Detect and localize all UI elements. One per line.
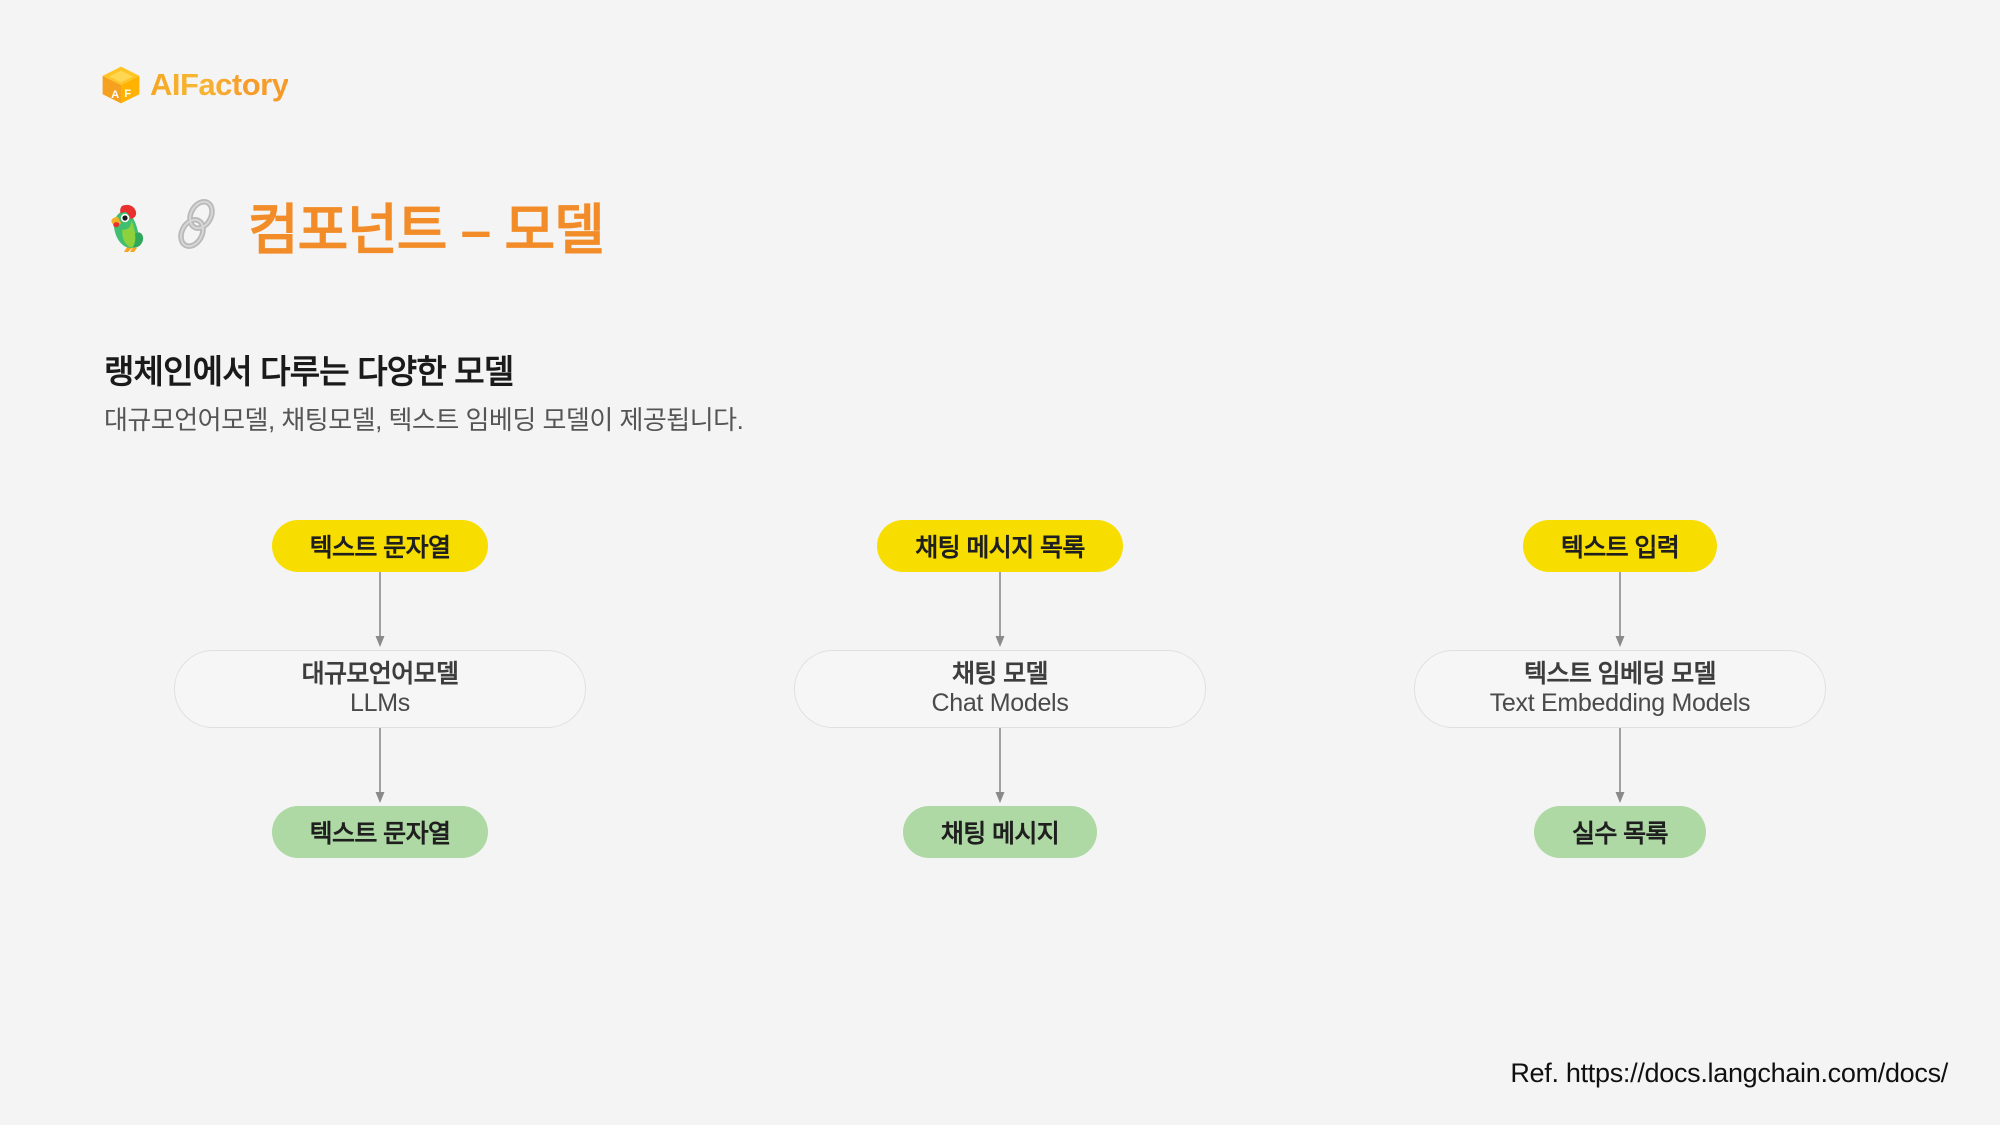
model-name-en: Chat Models — [931, 689, 1068, 719]
arrow-down-icon — [373, 572, 387, 650]
arrow-down-icon — [993, 728, 1007, 806]
slide-title-row: 컴포넌트 – 모델 — [104, 185, 604, 265]
model-flow-diagram: 텍스트 문자열 대규모언어모델 LLMs 텍스트 문자열 채팅 메시지 목록 — [100, 520, 1900, 950]
brand-name: AIFactory — [150, 67, 288, 103]
brand-logo: A F AIFactory — [100, 64, 288, 106]
model-name-ko: 텍스트 임베딩 모델 — [1524, 660, 1716, 690]
output-pill[interactable]: 텍스트 문자열 — [272, 806, 489, 858]
model-name-ko: 대규모언어모델 — [302, 660, 459, 690]
arrow-down-icon — [1613, 728, 1627, 806]
model-box[interactable]: 텍스트 임베딩 모델 Text Embedding Models — [1414, 650, 1826, 728]
model-box[interactable]: 채팅 모델 Chat Models — [794, 650, 1206, 728]
arrow-down-icon — [373, 728, 387, 806]
reference-link[interactable]: Ref. https://docs.langchain.com/docs/ — [1510, 1058, 1948, 1089]
flow-column-chat-models: 채팅 메시지 목록 채팅 모델 Chat Models 채팅 메시지 — [720, 520, 1280, 950]
input-pill[interactable]: 텍스트 입력 — [1523, 520, 1717, 572]
input-pill[interactable]: 채팅 메시지 목록 — [877, 520, 1123, 572]
section-description: 대규모언어모델, 채팅모델, 텍스트 임베딩 모델이 제공됩니다. — [104, 400, 743, 437]
svg-text:A: A — [111, 89, 119, 101]
chain-link-emoji — [172, 197, 224, 253]
model-box[interactable]: 대규모언어모델 LLMs — [174, 650, 586, 728]
model-name-en: Text Embedding Models — [1490, 689, 1751, 719]
arrow-down-icon — [993, 572, 1007, 650]
page-title: 컴포넌트 – 모델 — [248, 185, 604, 265]
flow-column-embeddings: 텍스트 입력 텍스트 임베딩 모델 Text Embedding Models … — [1340, 520, 1900, 950]
output-pill[interactable]: 채팅 메시지 — [903, 806, 1097, 858]
arrow-down-icon — [1613, 572, 1627, 650]
model-name-ko: 채팅 모델 — [952, 660, 1048, 690]
svg-text:F: F — [124, 88, 131, 100]
flow-column-llms: 텍스트 문자열 대규모언어모델 LLMs 텍스트 문자열 — [100, 520, 660, 950]
output-pill[interactable]: 실수 목록 — [1534, 806, 1706, 858]
parrot-emoji — [104, 196, 158, 254]
aifactory-cube-icon: A F — [100, 64, 142, 106]
model-name-en: LLMs — [350, 689, 410, 719]
section-heading: 랭체인에서 다루는 다양한 모델 — [104, 345, 513, 393]
input-pill[interactable]: 텍스트 문자열 — [272, 520, 489, 572]
